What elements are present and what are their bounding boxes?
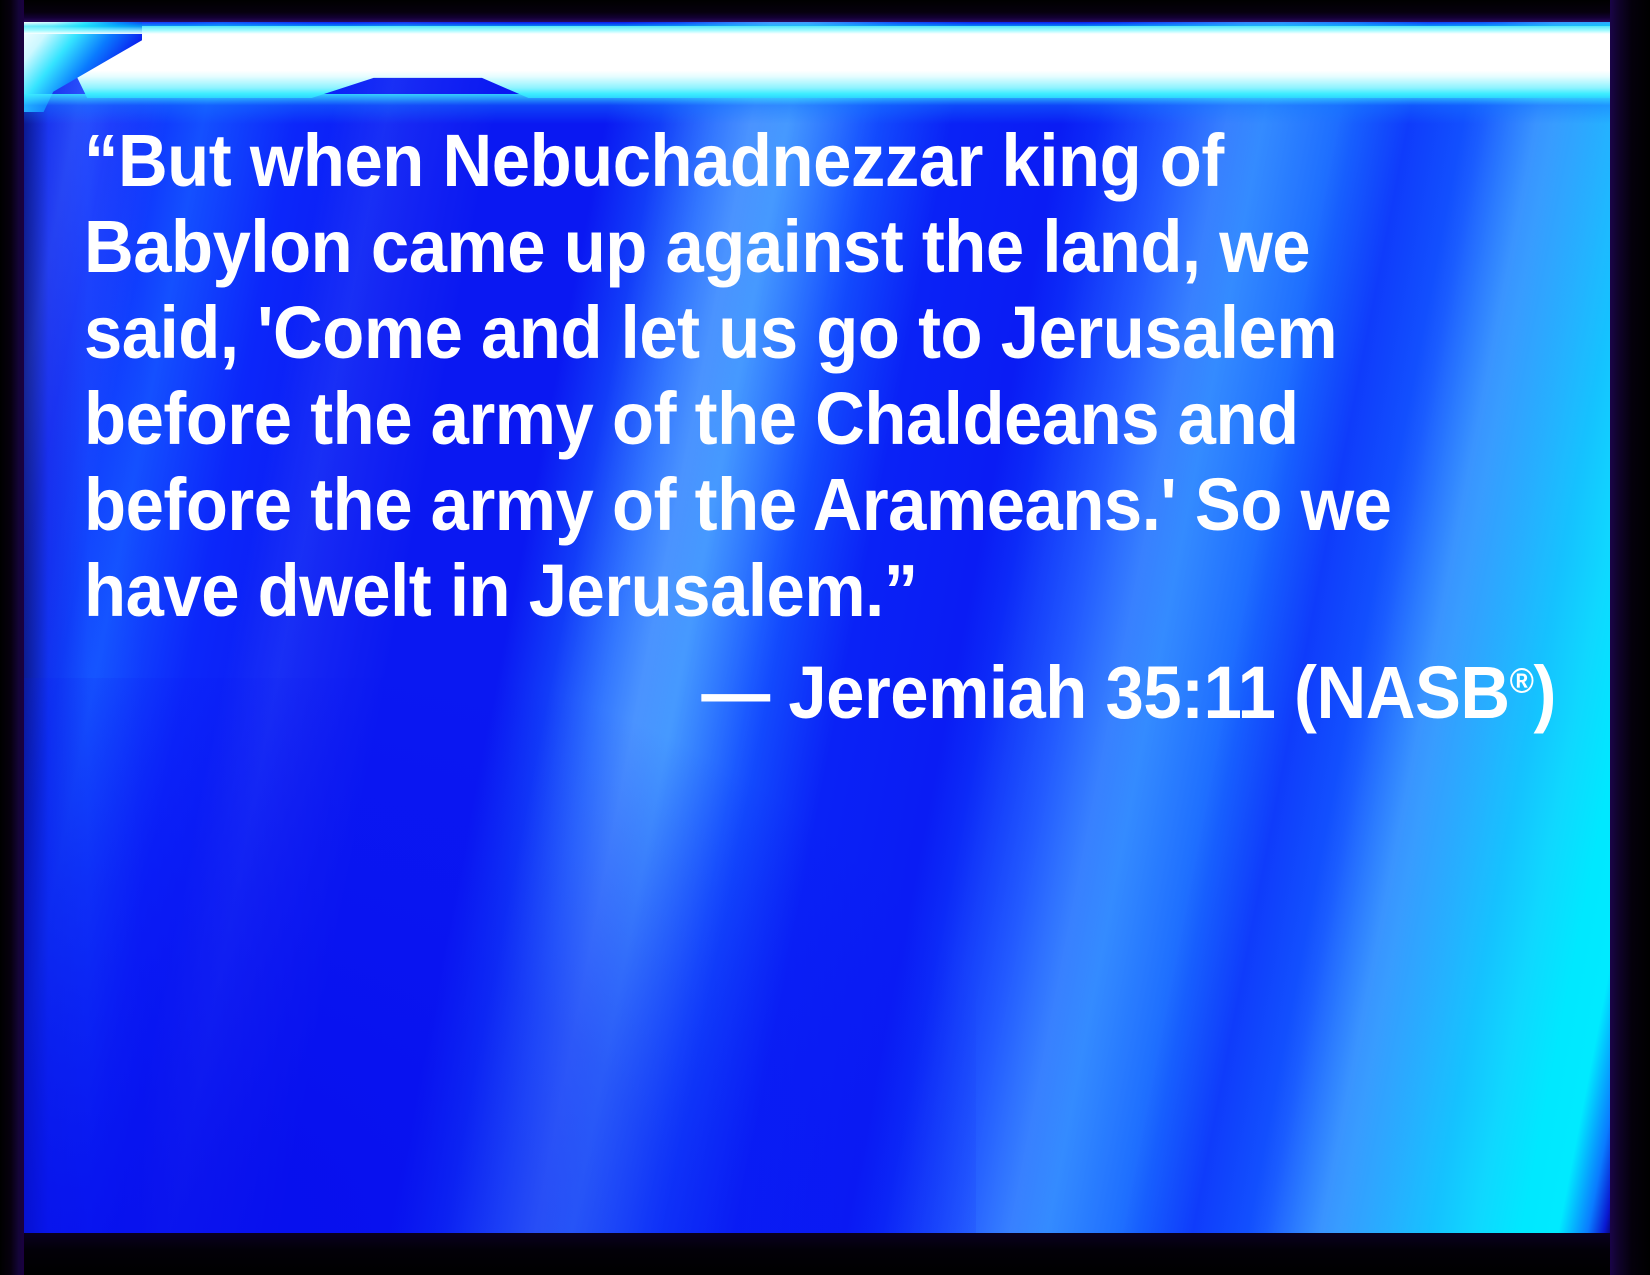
glow-white-highlight — [64, 26, 1612, 98]
slide-canvas: “But when Nebuchadnezzar king of Babylon… — [22, 20, 1612, 1238]
verse-attribution: — Jeremiah 35:11 (NASB®) — [187, 650, 1556, 736]
verse-slide: “But when Nebuchadnezzar king of Babylon… — [0, 0, 1650, 1275]
attribution-suffix: ) — [1534, 651, 1556, 734]
attribution-prefix: — Jeremiah 35:11 (NASB — [701, 651, 1509, 734]
frame-border-right — [1610, 0, 1650, 1275]
top-glow-band — [22, 20, 1612, 112]
background-bottom-left-wash — [22, 678, 976, 1238]
frame-border-top — [0, 0, 1650, 22]
frame-border-bottom — [0, 1233, 1650, 1275]
registered-trademark-icon: ® — [1510, 660, 1534, 700]
frame-border-left — [0, 0, 24, 1275]
verse-body-text: “But when Nebuchadnezzar king of Babylon… — [84, 118, 1442, 634]
glow-cyan-edge-line — [22, 22, 1612, 34]
